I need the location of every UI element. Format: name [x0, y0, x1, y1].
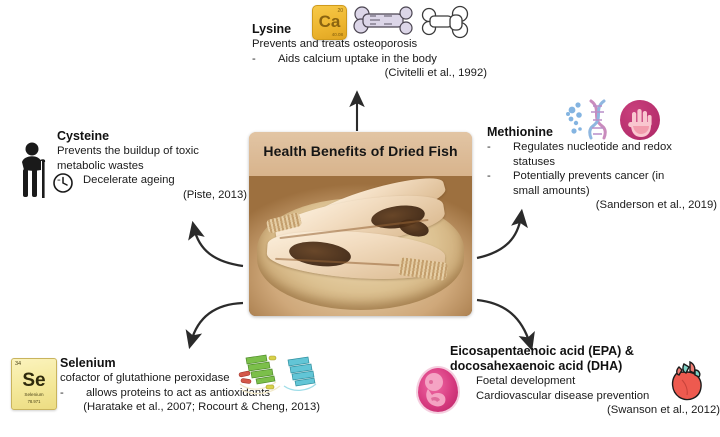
- selenium-element-name: Selenium: [12, 392, 56, 397]
- center-card: Health Benefits of Dried Fish: [249, 132, 472, 316]
- citation-lysine: (Civitelli et al., 1992): [252, 66, 487, 81]
- foetus-icon: [418, 368, 458, 412]
- calcium-symbol: Ca: [313, 13, 346, 30]
- benefit-line: -Regulates nucleotide and redox: [487, 140, 717, 155]
- selenium-atomic-number: 34: [15, 361, 21, 367]
- arrow-to-epa-dha: [477, 300, 530, 344]
- benefit-line: statuses: [487, 155, 717, 170]
- calcium-tile-icon: 20 Ca 40.08: [312, 5, 347, 40]
- bullet-dash: -: [252, 52, 278, 67]
- nutrient-name-cysteine: Cysteine: [57, 129, 247, 144]
- benefit-line: small amounts): [487, 184, 717, 199]
- dna-helix-icon: [564, 98, 616, 142]
- bullet-dash: -: [487, 140, 513, 155]
- selenium-atomic-weight: 78.971: [12, 399, 56, 404]
- calcium-weight: 40.08: [332, 32, 343, 37]
- selenium-element-tile-icon: 34 Se Selenium 78.971: [11, 358, 57, 410]
- selenium-symbol: Se: [12, 371, 56, 390]
- citation-methionine: (Sanderson et al., 2019): [487, 198, 717, 213]
- anatomical-heart-icon: [666, 358, 710, 404]
- page-title: Health Benefits of Dried Fish: [249, 143, 472, 159]
- citation-cysteine: (Piste, 2013): [57, 188, 247, 203]
- clock-icon: [52, 172, 74, 194]
- node-cysteine: Cysteine Prevents the buildup of toxic m…: [57, 129, 247, 202]
- hand-circle-icon: [620, 100, 660, 140]
- bone-icon: [350, 4, 475, 40]
- benefit-line: -Aids calcium uptake in the body: [252, 52, 487, 67]
- arrow-to-cysteine: [194, 228, 243, 266]
- benefit-line: -Decelerate ageing: [57, 173, 247, 188]
- molecule-icon: [566, 102, 582, 133]
- protein-ribbon-green-icon: [236, 352, 318, 398]
- arrow-to-methionine: [477, 216, 521, 258]
- benefit-line: Prevents the buildup of toxic: [57, 144, 247, 159]
- benefit-line: -Potentially prevents cancer (in: [487, 169, 717, 184]
- bone-outline-icon: [423, 7, 468, 38]
- bullet-dash: -: [487, 169, 513, 184]
- dried-fish-photo: [249, 176, 472, 316]
- arrow-to-selenium: [191, 303, 243, 342]
- benefit-line: metabolic wastes: [57, 159, 247, 174]
- bullet-dash: -: [60, 386, 86, 401]
- nutrient-name-epa-dha-line1: Eicosapentaenoic acid (EPA) &: [450, 344, 720, 359]
- citation-epa-dha: (Swanson et al., 2012): [450, 403, 720, 418]
- diagram-canvas: Health Benefits of Dried Fish Lysine Pre…: [0, 0, 720, 437]
